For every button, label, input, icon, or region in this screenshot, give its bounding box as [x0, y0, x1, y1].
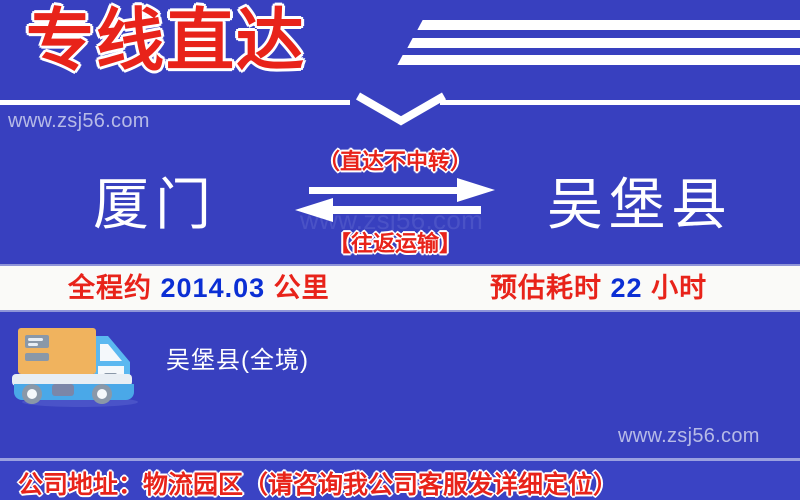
distance-unit-label: 公里	[274, 273, 330, 303]
duration-value: 22	[611, 273, 643, 303]
diagonal-stripe-icon	[397, 55, 800, 65]
route-info-band: 全程约 2014.03 公里 预估耗时 22 小时	[0, 264, 800, 312]
destination-city: 吴堡县	[505, 150, 775, 260]
roundtrip-tag: 【往返运输】	[290, 226, 500, 258]
shipping-route-banner: 专线直达 www.zsj56.com www.zsj56.com www.zsj…	[0, 0, 800, 500]
distance-value: 2014.03	[161, 273, 266, 303]
duration-unit-label: 小时	[651, 273, 707, 303]
delivery-truck-icon	[8, 318, 158, 408]
duration-info: 预估耗时 22 小时	[490, 266, 707, 310]
diagonal-stripe-icon	[407, 38, 800, 48]
watermark-top: www.zsj56.com	[8, 110, 150, 133]
watermark-bottom: www.zsj56.com	[618, 425, 760, 448]
shipping-label-large	[25, 335, 49, 348]
distance-prefix-label: 全程约	[68, 273, 152, 303]
diagonal-stripe-icon	[417, 20, 800, 30]
header-divider-left	[0, 100, 350, 105]
label-line-1	[28, 338, 43, 341]
company-address: 公司地址：物流园区（请咨询我公司客服发详细定位）	[18, 465, 618, 500]
cargo-box	[18, 328, 96, 374]
header-divider-right	[440, 100, 800, 105]
route-center-block: （直达不中转） 【往返运输】	[290, 144, 500, 258]
distance-info: 全程约 2014.03 公里	[68, 266, 330, 310]
page-title: 专线直达	[26, 6, 306, 77]
chevron-down-icon	[358, 92, 444, 122]
label-line-2	[28, 343, 38, 346]
front-wheel-hub	[97, 389, 107, 399]
origin-city: 厦门	[20, 150, 290, 260]
shipping-label-small	[25, 353, 49, 361]
footer-bar: 公司地址：物流园区（请咨询我公司客服发详细定位）	[0, 458, 800, 500]
coverage-area-label: 吴堡县(全境)	[166, 340, 309, 375]
arrow-right-icon	[309, 178, 495, 202]
duration-prefix-label: 预估耗时	[490, 273, 602, 303]
rear-wheel-hub	[27, 389, 37, 399]
route-row: 厦门 （直达不中转） 【往返运输】 吴堡县	[0, 150, 800, 260]
chevron-right-arm	[397, 93, 446, 126]
direct-service-tag: （直达不中转）	[290, 144, 500, 176]
arrow-left-icon	[295, 198, 481, 222]
bidirectional-arrow-icon	[295, 178, 495, 224]
underbody-block	[52, 384, 74, 396]
